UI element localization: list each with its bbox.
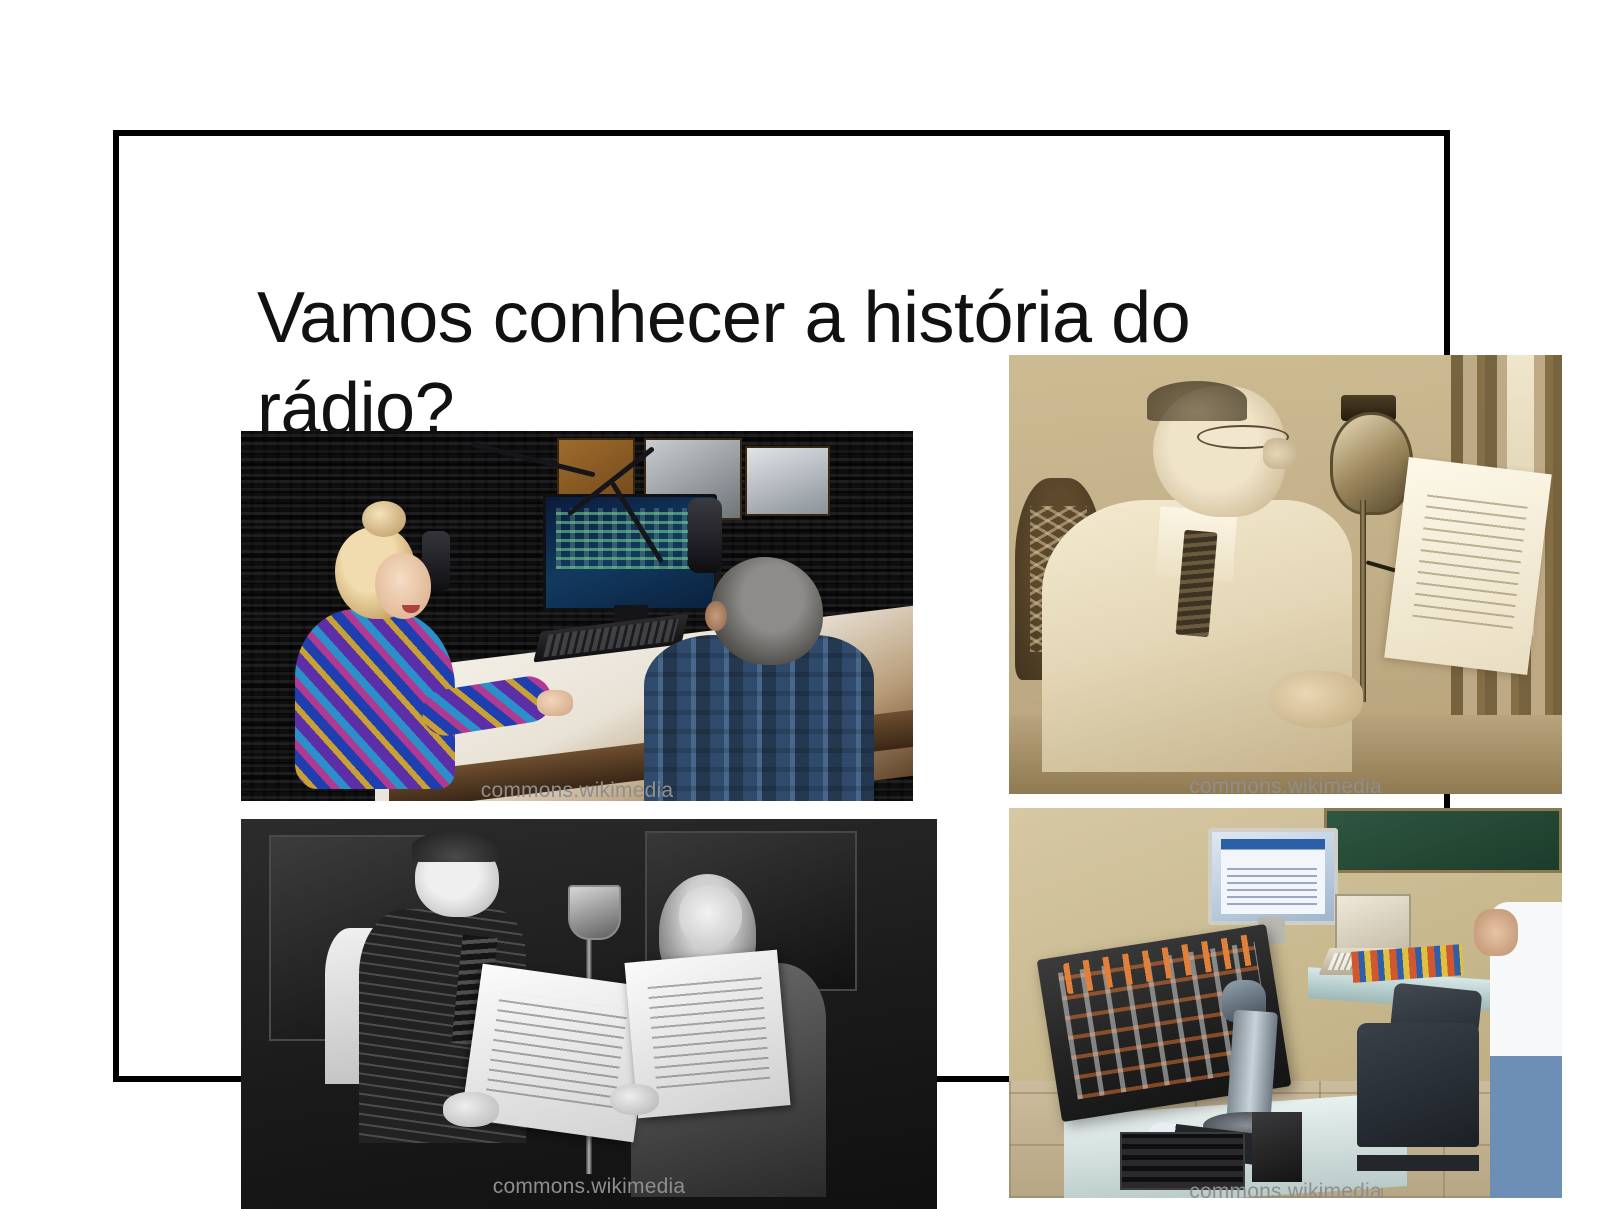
male-performer-hair — [412, 831, 499, 862]
page-title: Vamos conhecer a história do rádio? — [257, 273, 1377, 454]
computer-tower — [1252, 1112, 1302, 1182]
image-community-radio-station: commons.wikimedia — [1009, 808, 1562, 1198]
speaker-hand — [1269, 671, 1363, 728]
audio-rack-equipment — [1120, 1132, 1246, 1191]
office-chair-base — [1357, 1155, 1479, 1171]
female-performer-face — [679, 885, 742, 947]
bw-canvas — [241, 819, 937, 1209]
modern-studio-canvas — [241, 431, 913, 801]
male-performer-hand — [443, 1092, 499, 1127]
script-paper — [1384, 457, 1551, 675]
community-canvas — [1009, 808, 1562, 1198]
image-modern-radio-studio: commons.wikimedia — [241, 431, 913, 801]
computer-case — [1335, 894, 1411, 953]
standing-microphone — [568, 885, 621, 940]
presenter-hand — [537, 690, 573, 716]
image-radio-drama-performers: commons.wikimedia — [241, 819, 937, 1209]
wall-frame-light — [745, 446, 830, 517]
microphone-stand — [1360, 500, 1366, 702]
female-performer-hand — [610, 1084, 659, 1115]
person-arm — [1474, 909, 1518, 956]
presenter-hair-bun — [362, 501, 406, 537]
studio-microphone-right — [688, 498, 722, 573]
crt-monitor — [1208, 828, 1338, 926]
guest-ear — [705, 601, 727, 631]
office-chair-seat — [1357, 1023, 1479, 1148]
slide-frame: Vamos conhecer a história do rádio? — [113, 130, 1450, 1082]
green-chalkboard — [1324, 808, 1562, 873]
